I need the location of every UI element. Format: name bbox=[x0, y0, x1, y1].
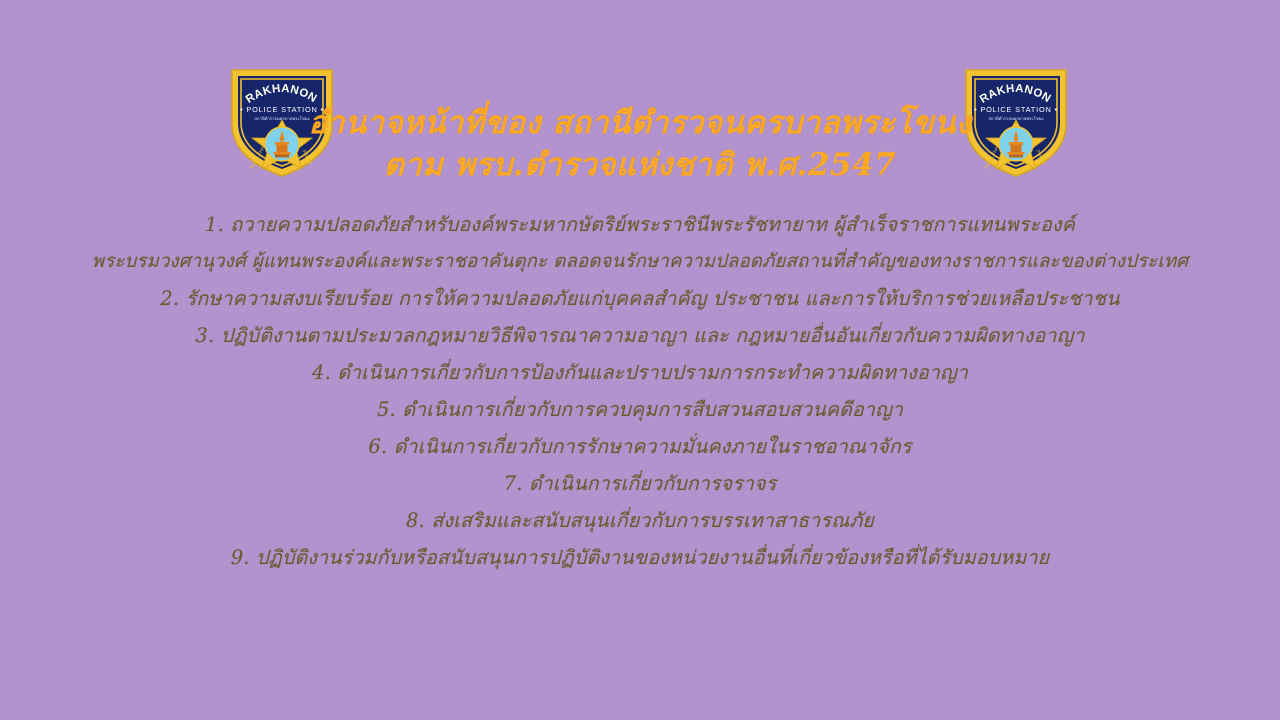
slide-root: PRAKHANONG • POLICE STATION • สถานีตำรวจ… bbox=[0, 0, 1280, 720]
list-item: 1. ถวายความปลอดภัยสำหรับองค์พระมหากษัตริ… bbox=[0, 206, 1280, 243]
title-line-2: ตาม พรบ.ตำรวจแห่งชาติ พ.ศ.2547 bbox=[0, 146, 1280, 184]
police-shield-icon: PRAKHANONG • POLICE STATION • สถานีตำรวจ… bbox=[226, 62, 338, 180]
list-item: 7. ดำเนินการเกี่ยวกับการจราจร bbox=[0, 465, 1280, 502]
police-badge-left: PRAKHANONG • POLICE STATION • สถานีตำรวจ… bbox=[226, 62, 338, 180]
list-item: 3. ปฏิบัติงานตามประมวลกฎหมายวิธีพิจารณาค… bbox=[0, 317, 1280, 354]
list-item: 5. ดำเนินการเกี่ยวกับการควบคุมการสืบสวนส… bbox=[0, 391, 1280, 428]
police-shield-icon: PRAKHANONG • POLICE STATION • สถานีตำรวจ… bbox=[960, 62, 1072, 180]
title-line-1: อำนาจหน้าที่ของ สถานีตำรวจนครบาลพระโขนง bbox=[0, 104, 1280, 142]
page-title: อำนาจหน้าที่ของ สถานีตำรวจนครบาลพระโขนง … bbox=[0, 104, 1280, 185]
badge-name-mid: • POLICE STATION • bbox=[974, 105, 1058, 114]
police-badge-right: PRAKHANONG • POLICE STATION • สถานีตำรวจ… bbox=[960, 62, 1072, 180]
list-item: 4. ดำเนินการเกี่ยวกับการป้องกันและปราบปร… bbox=[0, 354, 1280, 391]
list-item: พระบรมวงศานุวงศ์ ผู้แทนพระองค์และพระราชอ… bbox=[0, 243, 1280, 280]
badge-name-mid: • POLICE STATION • bbox=[240, 105, 324, 114]
list-item: 6. ดำเนินการเกี่ยวกับการรักษาความมั่นคงภ… bbox=[0, 428, 1280, 465]
duties-list: 1. ถวายความปลอดภัยสำหรับองค์พระมหากษัตริ… bbox=[0, 206, 1280, 576]
list-item: 9. ปฏิบัติงานร่วมกับหรือสนับสนุนการปฏิบั… bbox=[0, 539, 1280, 576]
list-item: 2. รักษาความสงบเรียบร้อย การให้ความปลอดภ… bbox=[0, 280, 1280, 317]
list-item: 8. ส่งเสริมและสนับสนุนเกี่ยวกับการบรรเทา… bbox=[0, 502, 1280, 539]
